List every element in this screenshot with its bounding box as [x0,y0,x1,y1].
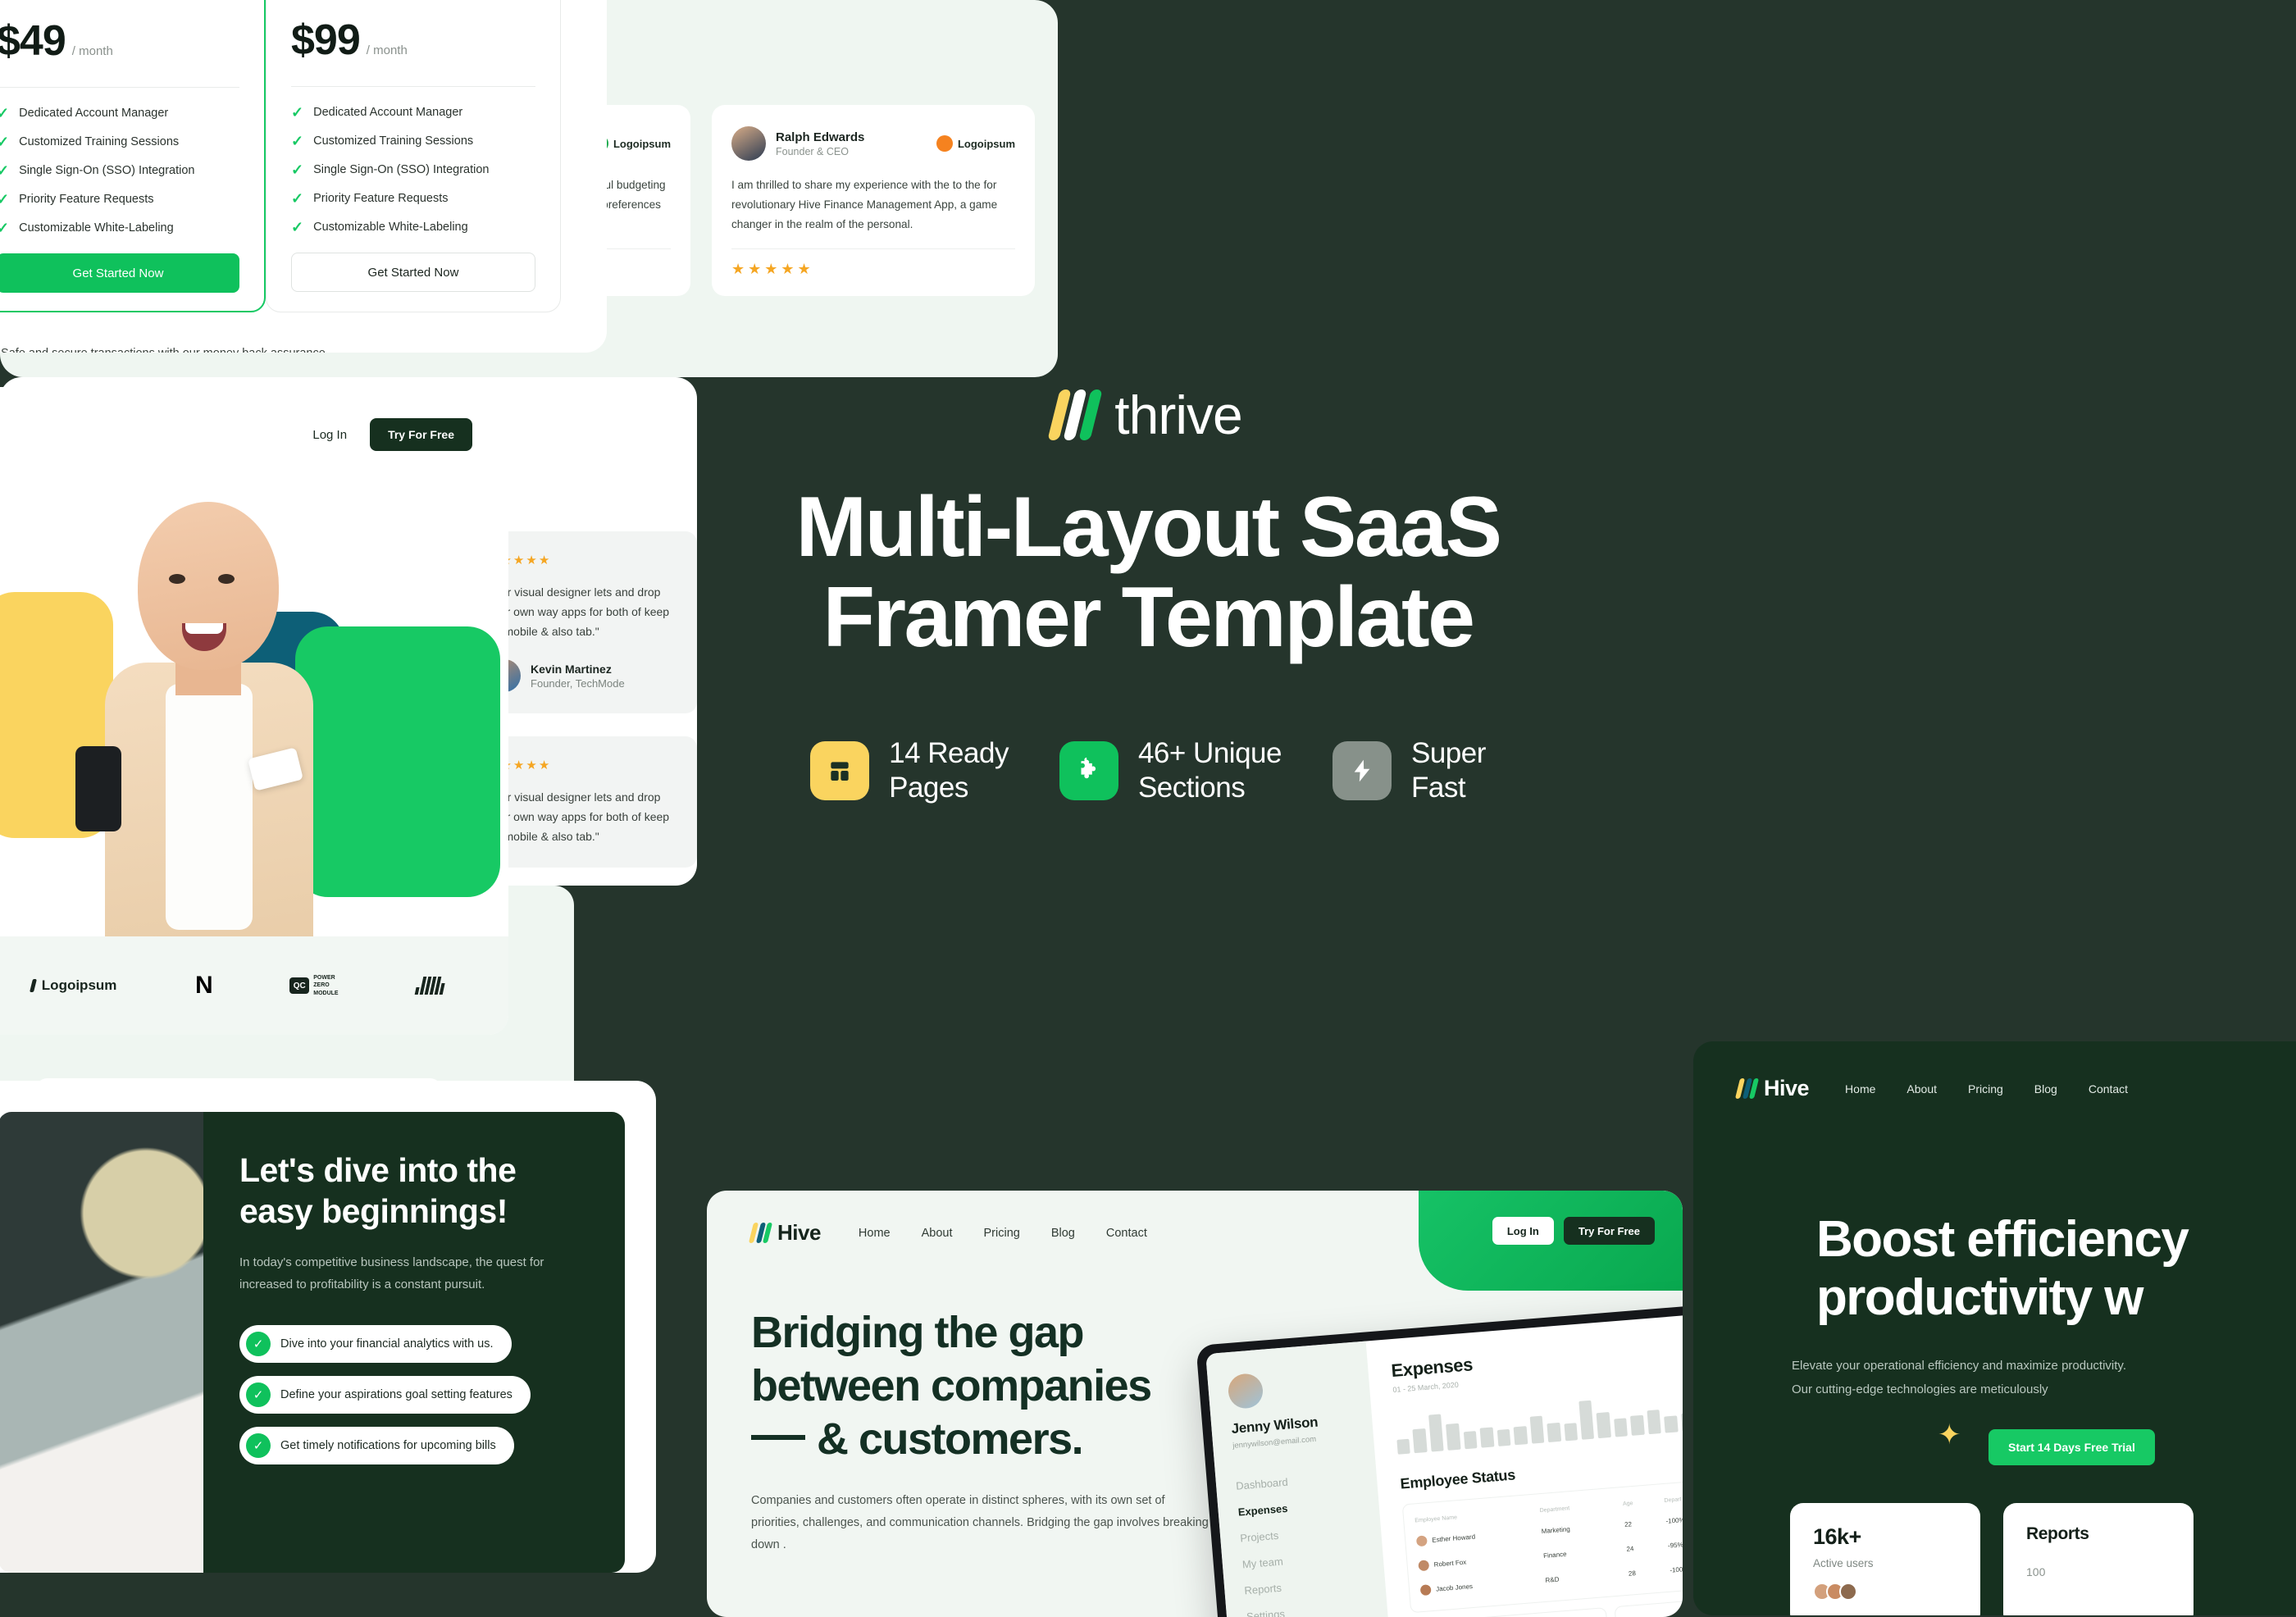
avatar [1420,1584,1432,1596]
lightning-icon [1332,741,1392,800]
dashboard-main: Expenses 01 - 25 March, 2020 + Employee … [1366,1305,1683,1617]
badge-ready-pages: 14 Ready Pages [810,736,1009,804]
bar [1647,1410,1661,1434]
expenses-bar-chart [1395,1380,1683,1455]
brand-name: Logoipsum [958,138,1015,150]
check-icon: ✓ [291,162,303,177]
feature-item: ✓Customizable White-Labeling [291,220,535,235]
nav-links: Home About Pricing Blog Contact [1845,1082,2128,1095]
logo-label: Logoipsum [42,977,117,994]
sidebar-item-my-team[interactable]: My team [1241,1549,1364,1571]
cell-name: Jacob Jones [1436,1583,1473,1593]
badge-label: 14 Ready Pages [889,736,1009,804]
cell-dept: R&D [1545,1570,1622,1583]
boost-stat-cards: 16k+ Active users Reports 100 [1693,1465,2296,1615]
tablet-mockup: Jenny Wilson jennywilson@email.com Dashb… [1196,1296,1683,1617]
col-depart: Depart [1664,1494,1683,1504]
divider [291,86,535,87]
nav-item-home[interactable]: Home [1845,1082,1875,1095]
check-icon: ✓ [0,221,9,235]
boost-navbar: Hive Home About Pricing Blog Contact [1693,1041,2296,1101]
check-icon: ✓ [0,106,9,121]
bar [1597,1412,1611,1438]
tablet-screen: Jenny Wilson jennywilson@email.com Dashb… [1205,1305,1683,1617]
sidebar-item-dashboard[interactable]: Dashboard [1236,1470,1358,1492]
bar [1614,1418,1628,1437]
logo-label: POWERZEROMODULE [313,974,338,997]
layout-icon [810,741,869,800]
bar [1630,1415,1644,1436]
badge-super-fast: Super Fast [1332,736,1486,804]
price-row: $49 / month [0,0,239,66]
bar [1428,1414,1444,1452]
bar [1480,1428,1494,1448]
avatar [1416,1535,1428,1546]
testimonial-role: Founder & CEO [776,146,927,157]
feature-item: ✓Priority Feature Requests [0,192,239,207]
star-rating: ★★★★★ [731,261,1015,278]
nav-links: Home About Pricing Blog Contact [859,1227,1147,1240]
pricing-plan-standard[interactable]: $99 / month ✓Dedicated Account Manager ✓… [266,0,561,312]
brand-logo: Logoipsum [936,135,1015,152]
col-age: Age [1623,1499,1658,1507]
divider [0,87,239,88]
nav-item-contact[interactable]: Contact [1106,1227,1147,1240]
avatar [1418,1560,1429,1571]
bar [1564,1423,1578,1441]
feature-label: Customizable White-Labeling [313,221,468,234]
plan-price: $49 [0,16,66,66]
dive-card: Let's dive into the easy beginnings! In … [0,1081,656,1573]
feature-item: ✓Single Sign-On (SSO) Integration [291,162,535,177]
brand-name: Hive [1764,1076,1809,1101]
nav-item-blog[interactable]: Blog [2034,1082,2057,1095]
start-free-trial-button[interactable]: Start 14 Days Free Trial [1988,1429,2155,1465]
logo-power-module: QC POWERZEROMODULE [289,974,338,997]
check-icon: ✓ [0,192,9,207]
thrive-logo: thrive [1054,384,1241,446]
list-item-label: Define your aspirations goal setting fea… [280,1388,512,1401]
get-started-button[interactable]: Get Started Now [291,253,535,292]
feature-label: Priority Feature Requests [19,193,153,206]
workspace-photo [0,1112,203,1573]
pricing-grid: $49 / month ✓Dedicated Account Manager ✓… [0,0,607,312]
bar [1514,1426,1528,1445]
cell-name: Robert Fox [1433,1558,1466,1568]
avatar-stack [1813,1583,1957,1601]
cell-age: 24 [1626,1542,1661,1552]
avatar [731,126,766,161]
avatar [1839,1583,1857,1601]
stat-title: Reports [2026,1524,2171,1544]
badge-line1: Super [1411,736,1486,770]
plan-period: / month [367,43,408,57]
testimonial-person: Ralph Edwards Founder & CEO [776,130,927,157]
dive-feature-list: ✓Dive into your financial analytics with… [239,1325,589,1478]
nav-item-about[interactable]: About [922,1227,953,1240]
feature-item: ✓Customizable White-Labeling [0,221,239,235]
avatar [1227,1373,1264,1410]
logo-bars-icon [415,977,447,995]
nav-item-blog[interactable]: Blog [1051,1227,1075,1240]
feature-item: ✓Customized Training Sessions [0,134,239,149]
boost-body-line1: Elevate your operational efficiency and … [1792,1355,2296,1378]
boost-heading: Boost efficiency productivity w [1693,1101,2296,1327]
logo-slashes-icon [1738,1078,1756,1099]
hero-block: thrive Multi-Layout SaaS Framer Template… [0,384,2296,804]
boost-body-line2: Our cutting-edge technologies are meticu… [1792,1378,2296,1402]
cell-dept: Marketing [1541,1521,1618,1534]
bar [1529,1415,1544,1443]
hive-logo: Hive [1738,1076,1809,1101]
list-item: ✓Define your aspirations goal setting fe… [239,1376,531,1414]
logo-n-icon: N [195,972,212,1000]
check-icon: ✓ [291,105,303,120]
cell-pct: -100% [1665,1514,1683,1525]
bar [1664,1416,1678,1433]
badge-line1: 14 Ready [889,736,1009,770]
feature-label: Customized Training Sessions [313,134,473,148]
testimonial-card: Ralph Edwards Founder & CEO Logoipsum I … [712,105,1035,296]
sidebar-item-projects[interactable]: Projects [1240,1523,1362,1545]
brand-name: thrive [1114,384,1241,446]
nav-item-about[interactable]: About [1906,1082,1937,1095]
boost-heading-line1: Boost efficiency [1816,1211,2296,1269]
nav-item-pricing[interactable]: Pricing [984,1227,1020,1240]
logo-slashes-icon [1054,389,1096,440]
brand-name: Hive [777,1220,821,1246]
feature-item: ✓Dedicated Account Manager [291,105,535,120]
logo-logoipsum: Logoipsum [31,977,117,994]
bar [1413,1428,1428,1453]
puzzle-icon [1059,741,1118,800]
sparkle-icon: ✦ [1938,1419,1961,1451]
logoipsum-icon [936,135,953,152]
check-icon: ✓ [0,163,9,178]
dive-heading-line2: easy beginnings! [239,1191,589,1232]
dive-heading: Let's dive into the easy beginnings! [239,1150,589,1232]
nav-item-pricing[interactable]: Pricing [1968,1082,2003,1095]
badge-line1: 46+ Unique [1138,736,1282,770]
poster-canvas: $49 / month ✓Dedicated Account Manager ✓… [0,0,2296,1558]
feature-item: ✓Priority Feature Requests [291,191,535,206]
price-row: $99 / month [291,0,535,65]
bar [1578,1401,1594,1440]
guarantee-text: 00% Safe and secure transactions with ou… [0,312,607,353]
bar [1497,1429,1511,1446]
badge-line2: Sections [1138,771,1282,804]
cell-dept: Finance [1543,1546,1620,1559]
dive-heading-line1: Let's dive into the [239,1150,589,1191]
boost-heading-line2: productivity w [1816,1269,2296,1328]
bridging-card: Log In Try For Free Hive Home About Pric… [707,1191,1683,1617]
brand-name: Logoipsum [613,138,671,150]
pricing-plan-featured[interactable]: $49 / month ✓Dedicated Account Manager ✓… [0,0,266,312]
feature-badges: 14 Ready Pages 46+ Unique Sections Sup [810,736,1486,804]
list-item-label: Dive into your financial analytics with … [280,1337,494,1351]
feature-item: ✓Customized Training Sessions [291,134,535,148]
feature-label: Customizable White-Labeling [19,221,174,235]
dashboard-header: Expenses 01 - 25 March, 2020 + [1391,1328,1683,1394]
feature-label: Dedicated Account Manager [313,106,462,119]
try-for-free-button[interactable]: Try For Free [1564,1217,1655,1245]
col-department: Department [1539,1502,1616,1514]
stat-label: Active users [1813,1557,1957,1569]
cell-age: 28 [1629,1567,1664,1577]
get-started-button[interactable]: Get Started Now [0,253,239,293]
feature-label: Single Sign-On (SSO) Integration [19,164,194,177]
plan-price: $99 [291,16,360,65]
bridge-nav-buttons: Log In Try For Free [1492,1217,1655,1245]
stat-card-active-users: 16k+ Active users [1790,1503,1980,1615]
list-item: ✓Get timely notifications for upcoming b… [239,1427,514,1464]
feature-item: ✓Single Sign-On (SSO) Integration [0,163,239,178]
bridge-body-text: Companies and customers often operate in… [707,1465,1215,1556]
sidebar-item-reports[interactable]: Reports [1244,1575,1366,1597]
bar [1464,1431,1478,1449]
sidebar-item-expenses[interactable]: Expenses [1237,1496,1360,1519]
bar [1396,1439,1410,1455]
cell-age: 22 [1624,1518,1660,1528]
badge-label: Super Fast [1411,736,1486,804]
cell-name: Esther Howard [1432,1533,1475,1543]
employee-status-table: Employee Name Department Age Depart Stat… [1402,1473,1683,1614]
badge-line2: Pages [889,771,1009,804]
divider [731,248,1015,249]
bar [1681,1413,1683,1432]
feature-label: Customized Training Sessions [19,135,179,148]
panel-date-range: 01 - 25 March, 2020 [1392,1379,1474,1394]
bar [1547,1423,1560,1442]
feature-label: Priority Feature Requests [313,192,448,205]
testimonial-name: Ralph Edwards [776,130,927,144]
page-title: Multi-Layout SaaS Framer Template [796,482,1501,663]
dash-decoration [751,1435,805,1440]
dive-body: Let's dive into the easy beginnings! In … [203,1112,625,1573]
badge-line2: Fast [1411,771,1486,804]
nav-item-home[interactable]: Home [859,1227,891,1240]
dashboard-sidebar: Jenny Wilson jennywilson@email.com Dashb… [1205,1341,1392,1617]
cell-pct: -95% [1668,1538,1683,1550]
check-icon: ✓ [246,1382,271,1407]
nav-item-contact[interactable]: Contact [2089,1082,2128,1095]
badge-label: 46+ Unique Sections [1138,736,1282,804]
login-button[interactable]: Log In [1492,1217,1554,1245]
check-icon: ✓ [291,134,303,148]
stat-number: 100 [2026,1565,2171,1578]
list-item-label: Get timely notifications for upcoming bi… [280,1439,496,1452]
stat-card-reports: Reports 100 [2003,1503,2193,1615]
panel-title: Expenses [1391,1354,1474,1382]
qc-icon: QC [289,977,309,994]
check-icon: ✓ [291,220,303,235]
check-icon: ✓ [291,191,303,206]
dive-body-text: In today's competitive business landscap… [239,1251,589,1296]
boost-efficiency-card: Hive Home About Pricing Blog Contact ✦ B… [1693,1041,2296,1615]
bridge-heading-line3: & customers. [817,1414,1082,1464]
testimonial-quote: I am thrilled to share my experience wit… [731,175,1015,234]
plan-period: / month [72,44,113,58]
cell-pct: -100% [1670,1562,1683,1574]
check-icon: ✓ [0,134,9,149]
pricing-card: $49 / month ✓Dedicated Account Manager ✓… [0,0,607,353]
bar [1446,1423,1460,1451]
badge-unique-sections: 46+ Unique Sections [1059,736,1282,804]
testimonial-header: Ralph Edwards Founder & CEO Logoipsum [731,126,1015,161]
feature-item: ✓Dedicated Account Manager [0,106,239,121]
boost-body-text: Elevate your operational efficiency and … [1693,1327,2296,1401]
dashboard-nav: Dashboard Expenses Projects My team Repo… [1236,1470,1369,1617]
headline-line2: Framer Template [796,572,1501,663]
sidebar-item-settings[interactable]: Settings [1246,1601,1368,1617]
headline-line1: Multi-Layout SaaS [796,482,1501,572]
list-item: ✓Dive into your financial analytics with… [239,1325,512,1363]
check-icon: ✓ [246,1332,271,1356]
client-logo-strip: Logoipsum N QC POWERZEROMODULE [0,936,508,1035]
stat-value: 16k+ [1813,1524,1957,1550]
logo-slashes-icon [751,1223,770,1243]
feature-label: Single Sign-On (SSO) Integration [313,163,489,176]
check-icon: ✓ [246,1433,271,1458]
hive-logo: Hive [751,1220,821,1246]
feature-label: Dedicated Account Manager [19,107,168,120]
